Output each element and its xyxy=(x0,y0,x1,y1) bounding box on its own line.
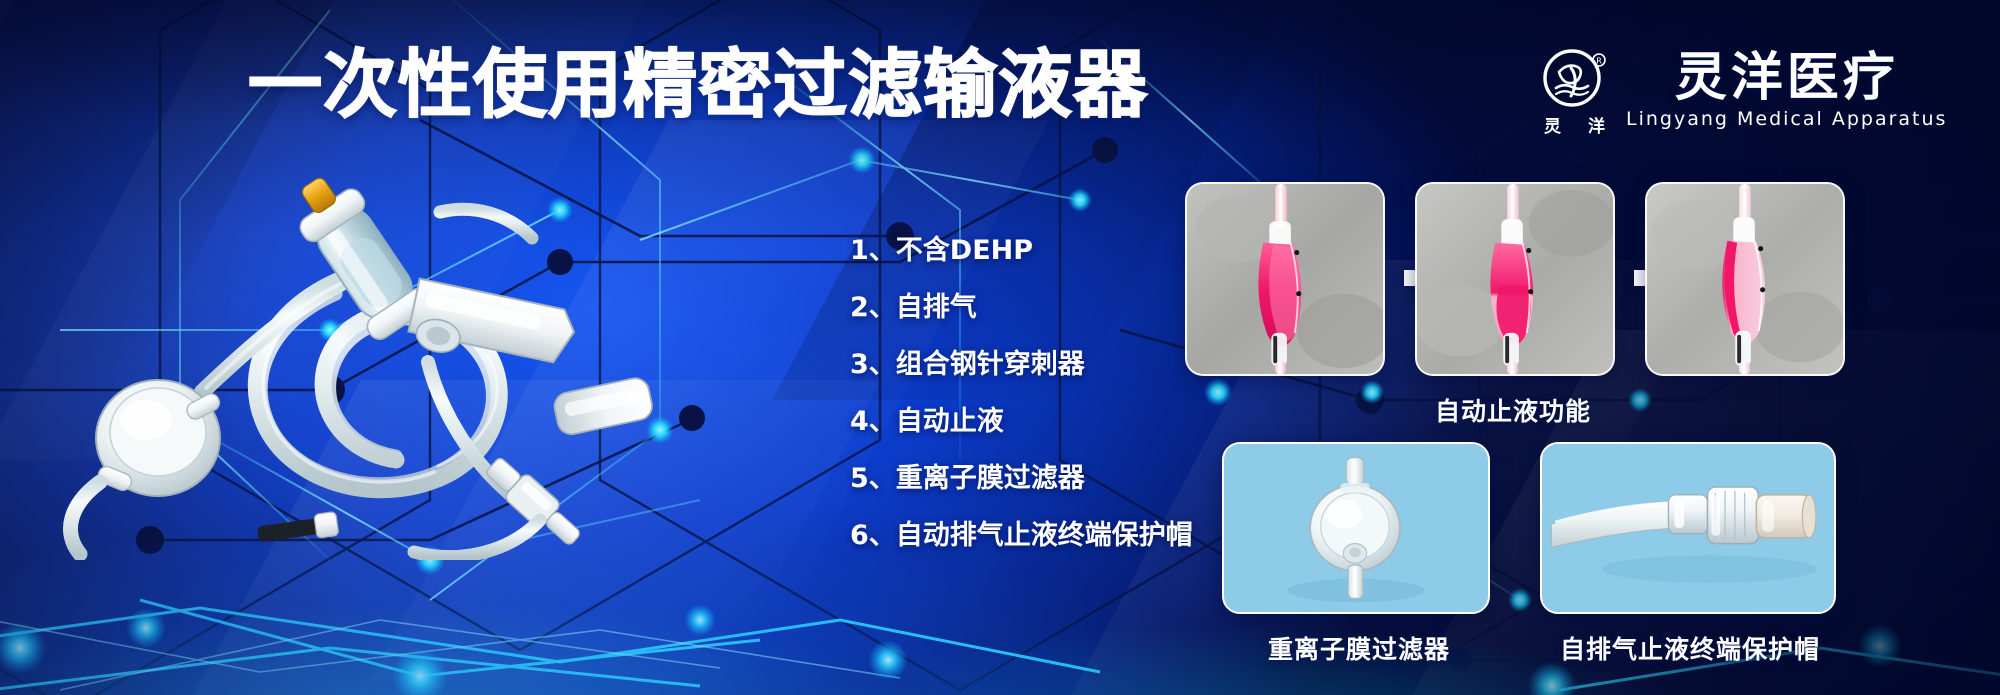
feature-item-1: 1、不含DEHP xyxy=(850,222,1193,279)
product-banner: 一次性使用精密过滤输液器 R 灵 洋 灵洋医疗 Ling xyxy=(0,0,2000,695)
brand-names: 灵洋医疗 Lingyang Medical Apparatus xyxy=(1626,51,1947,131)
detail-caption-terminal-cap: 自排气止液终端保护帽 xyxy=(1560,630,1820,666)
svg-text:R: R xyxy=(1596,57,1602,66)
feature-list: 1、不含DEHP 2、自排气 3、组合钢针穿刺器 4、自动止液 5、重离子膜过滤… xyxy=(850,222,1193,564)
product-photo-infusion-set xyxy=(40,160,760,560)
logo-subtext: 灵 洋 xyxy=(1544,112,1606,137)
feature-item-2: 2、自排气 xyxy=(850,279,1193,336)
detail-photo-filter xyxy=(1222,442,1490,614)
page-title: 一次性使用精密过滤输液器 xyxy=(248,48,1148,122)
logo-mark: R 灵 洋 xyxy=(1542,44,1608,137)
detail-photo-terminal-cap xyxy=(1540,442,1836,614)
sequence-caption: 自动止液功能 xyxy=(1435,392,1591,428)
feature-item-4: 4、自动止液 xyxy=(850,393,1193,450)
sequence-photo-3 xyxy=(1645,182,1845,376)
brand-name-cn: 灵洋医疗 xyxy=(1675,51,1899,106)
logo-char-ling: 灵 xyxy=(1544,112,1562,137)
logo-char-yang: 洋 xyxy=(1588,112,1606,137)
feature-item-3: 3、组合钢针穿刺器 xyxy=(850,336,1193,393)
sequence-photo-1 xyxy=(1185,182,1385,376)
feature-item-6: 6、自动排气止液终端保护帽 xyxy=(850,507,1193,564)
detail-caption-filter: 重离子膜过滤器 xyxy=(1268,630,1450,666)
feature-item-5: 5、重离子膜过滤器 xyxy=(850,450,1193,507)
sequence-photo-2 xyxy=(1415,182,1615,376)
brand-name-en: Lingyang Medical Apparatus xyxy=(1626,108,1947,130)
logo-emblem-icon: R xyxy=(1542,44,1608,110)
brand-lockup: R 灵 洋 灵洋医疗 Lingyang Medical Apparatus xyxy=(1542,44,1947,137)
